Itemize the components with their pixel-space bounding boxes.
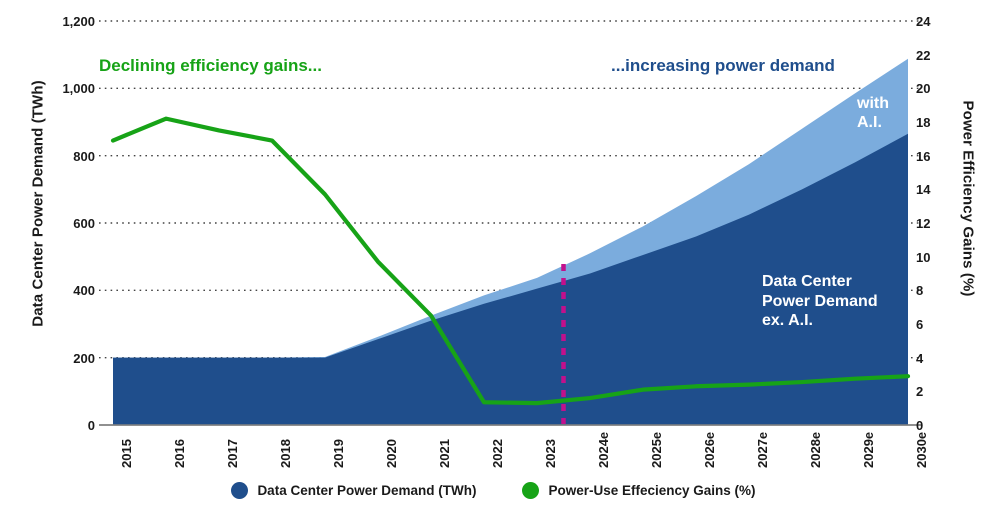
x-axis-tick: 2015: [119, 439, 134, 468]
y-axis-right-tick: 6: [916, 318, 923, 331]
legend-swatch-icon: [231, 482, 248, 499]
x-axis-tick: 2025e: [649, 432, 664, 468]
annotation-ex-ai: Data Center Power Demand ex. A.I.: [762, 272, 878, 331]
y-axis-left-title: Data Center Power Demand (TWh): [30, 74, 47, 334]
y-axis-right-tick: 10: [916, 251, 930, 264]
y-axis-right-title: Power Efficiency Gains (%): [960, 69, 977, 329]
legend-label: Data Center Power Demand (TWh): [257, 483, 476, 498]
legend-item[interactable]: Data Center Power Demand (TWh): [231, 482, 476, 499]
y-axis-left-tick: 600: [73, 217, 95, 230]
x-axis-tick: 2024e: [596, 432, 611, 468]
annotation-ex-ai-line2: Power Demand: [762, 292, 878, 312]
x-axis-tick: 2021: [437, 439, 452, 468]
y-axis-left-tick: 800: [73, 150, 95, 163]
x-axis-tick: 2027e: [755, 432, 770, 468]
x-axis-tick: 2026e: [702, 432, 717, 468]
x-axis-tick: 2018: [278, 439, 293, 468]
x-axis-tick: 2028e: [808, 432, 823, 468]
y-axis-left-tick: 200: [73, 352, 95, 365]
x-axis-tick: 2016: [172, 439, 187, 468]
annotation-with-ai-line2: A.I.: [857, 114, 889, 133]
y-axis-right-tick: 18: [916, 116, 930, 129]
x-axis-tick: 2022: [490, 439, 505, 468]
x-axis-tick: 2030e: [914, 432, 929, 468]
annotation-declining-efficiency: Declining efficiency gains...: [99, 56, 322, 76]
y-axis-right-tick: 4: [916, 352, 923, 365]
legend-label: Power-Use Effeciency Gains (%): [548, 483, 755, 498]
annotation-increasing-demand: ...increasing power demand: [611, 56, 835, 76]
x-axis-tick: 2017: [225, 439, 240, 468]
annotation-ex-ai-line1: Data Center: [762, 272, 878, 292]
y-axis-right-tick: 20: [916, 82, 930, 95]
y-axis-right-tick: 2: [916, 385, 923, 398]
y-axis-right-tick: 22: [916, 49, 930, 62]
y-axis-right-tick: 0: [916, 419, 923, 432]
x-axis-tick: 2023: [543, 439, 558, 468]
legend-item[interactable]: Power-Use Effeciency Gains (%): [522, 482, 755, 499]
y-axis-left-tick: 1,000: [62, 82, 95, 95]
x-axis-tick: 2020: [384, 439, 399, 468]
y-axis-right-tick: 24: [916, 15, 930, 28]
chart-container: Data Center Power Demand (TWh) Power Eff…: [0, 0, 987, 517]
y-axis-left-tick: 0: [88, 419, 95, 432]
y-axis-right-tick: 8: [916, 284, 923, 297]
y-axis-right-tick: 16: [916, 150, 930, 163]
chart-legend: Data Center Power Demand (TWh)Power-Use …: [0, 482, 987, 499]
x-axis-tick: 2029e: [861, 432, 876, 468]
y-axis-left-tick: 1,200: [62, 15, 95, 28]
y-axis-right-tick: 14: [916, 183, 930, 196]
y-axis-left-tick: 400: [73, 284, 95, 297]
legend-swatch-icon: [522, 482, 539, 499]
annotation-ex-ai-line3: ex. A.I.: [762, 311, 878, 331]
annotation-with-ai-line1: with: [857, 95, 889, 114]
annotation-with-ai: with A.I.: [857, 95, 889, 133]
y-axis-right-tick: 12: [916, 217, 930, 230]
x-axis-tick: 2019: [331, 439, 346, 468]
